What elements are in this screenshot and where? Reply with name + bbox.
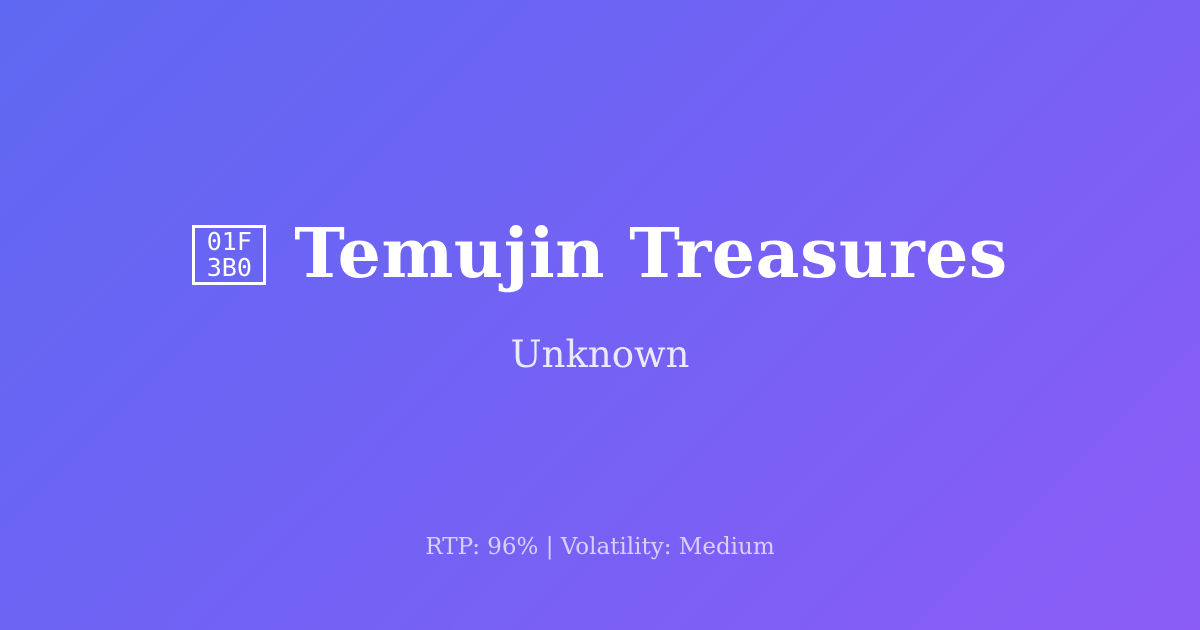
game-provider-subtitle: Unknown bbox=[510, 333, 689, 377]
slot-machine-icon-hex-bottom: 3B0 bbox=[207, 255, 252, 281]
game-meta-text: RTP: 96% | Volatility: Medium bbox=[0, 534, 1200, 562]
slot-machine-icon: 01F 3B0 bbox=[192, 225, 266, 285]
game-title: Temujin Treasures bbox=[294, 219, 1007, 290]
title-row: 01F 3B0 Temujin Treasures bbox=[192, 219, 1007, 290]
game-preview-card: 01F 3B0 Temujin Treasures Unknown RTP: 9… bbox=[0, 0, 1200, 630]
game-meta-footer: RTP: 96% | Volatility: Medium bbox=[0, 534, 1200, 562]
slot-machine-icon-hex-top: 01F bbox=[207, 229, 252, 255]
